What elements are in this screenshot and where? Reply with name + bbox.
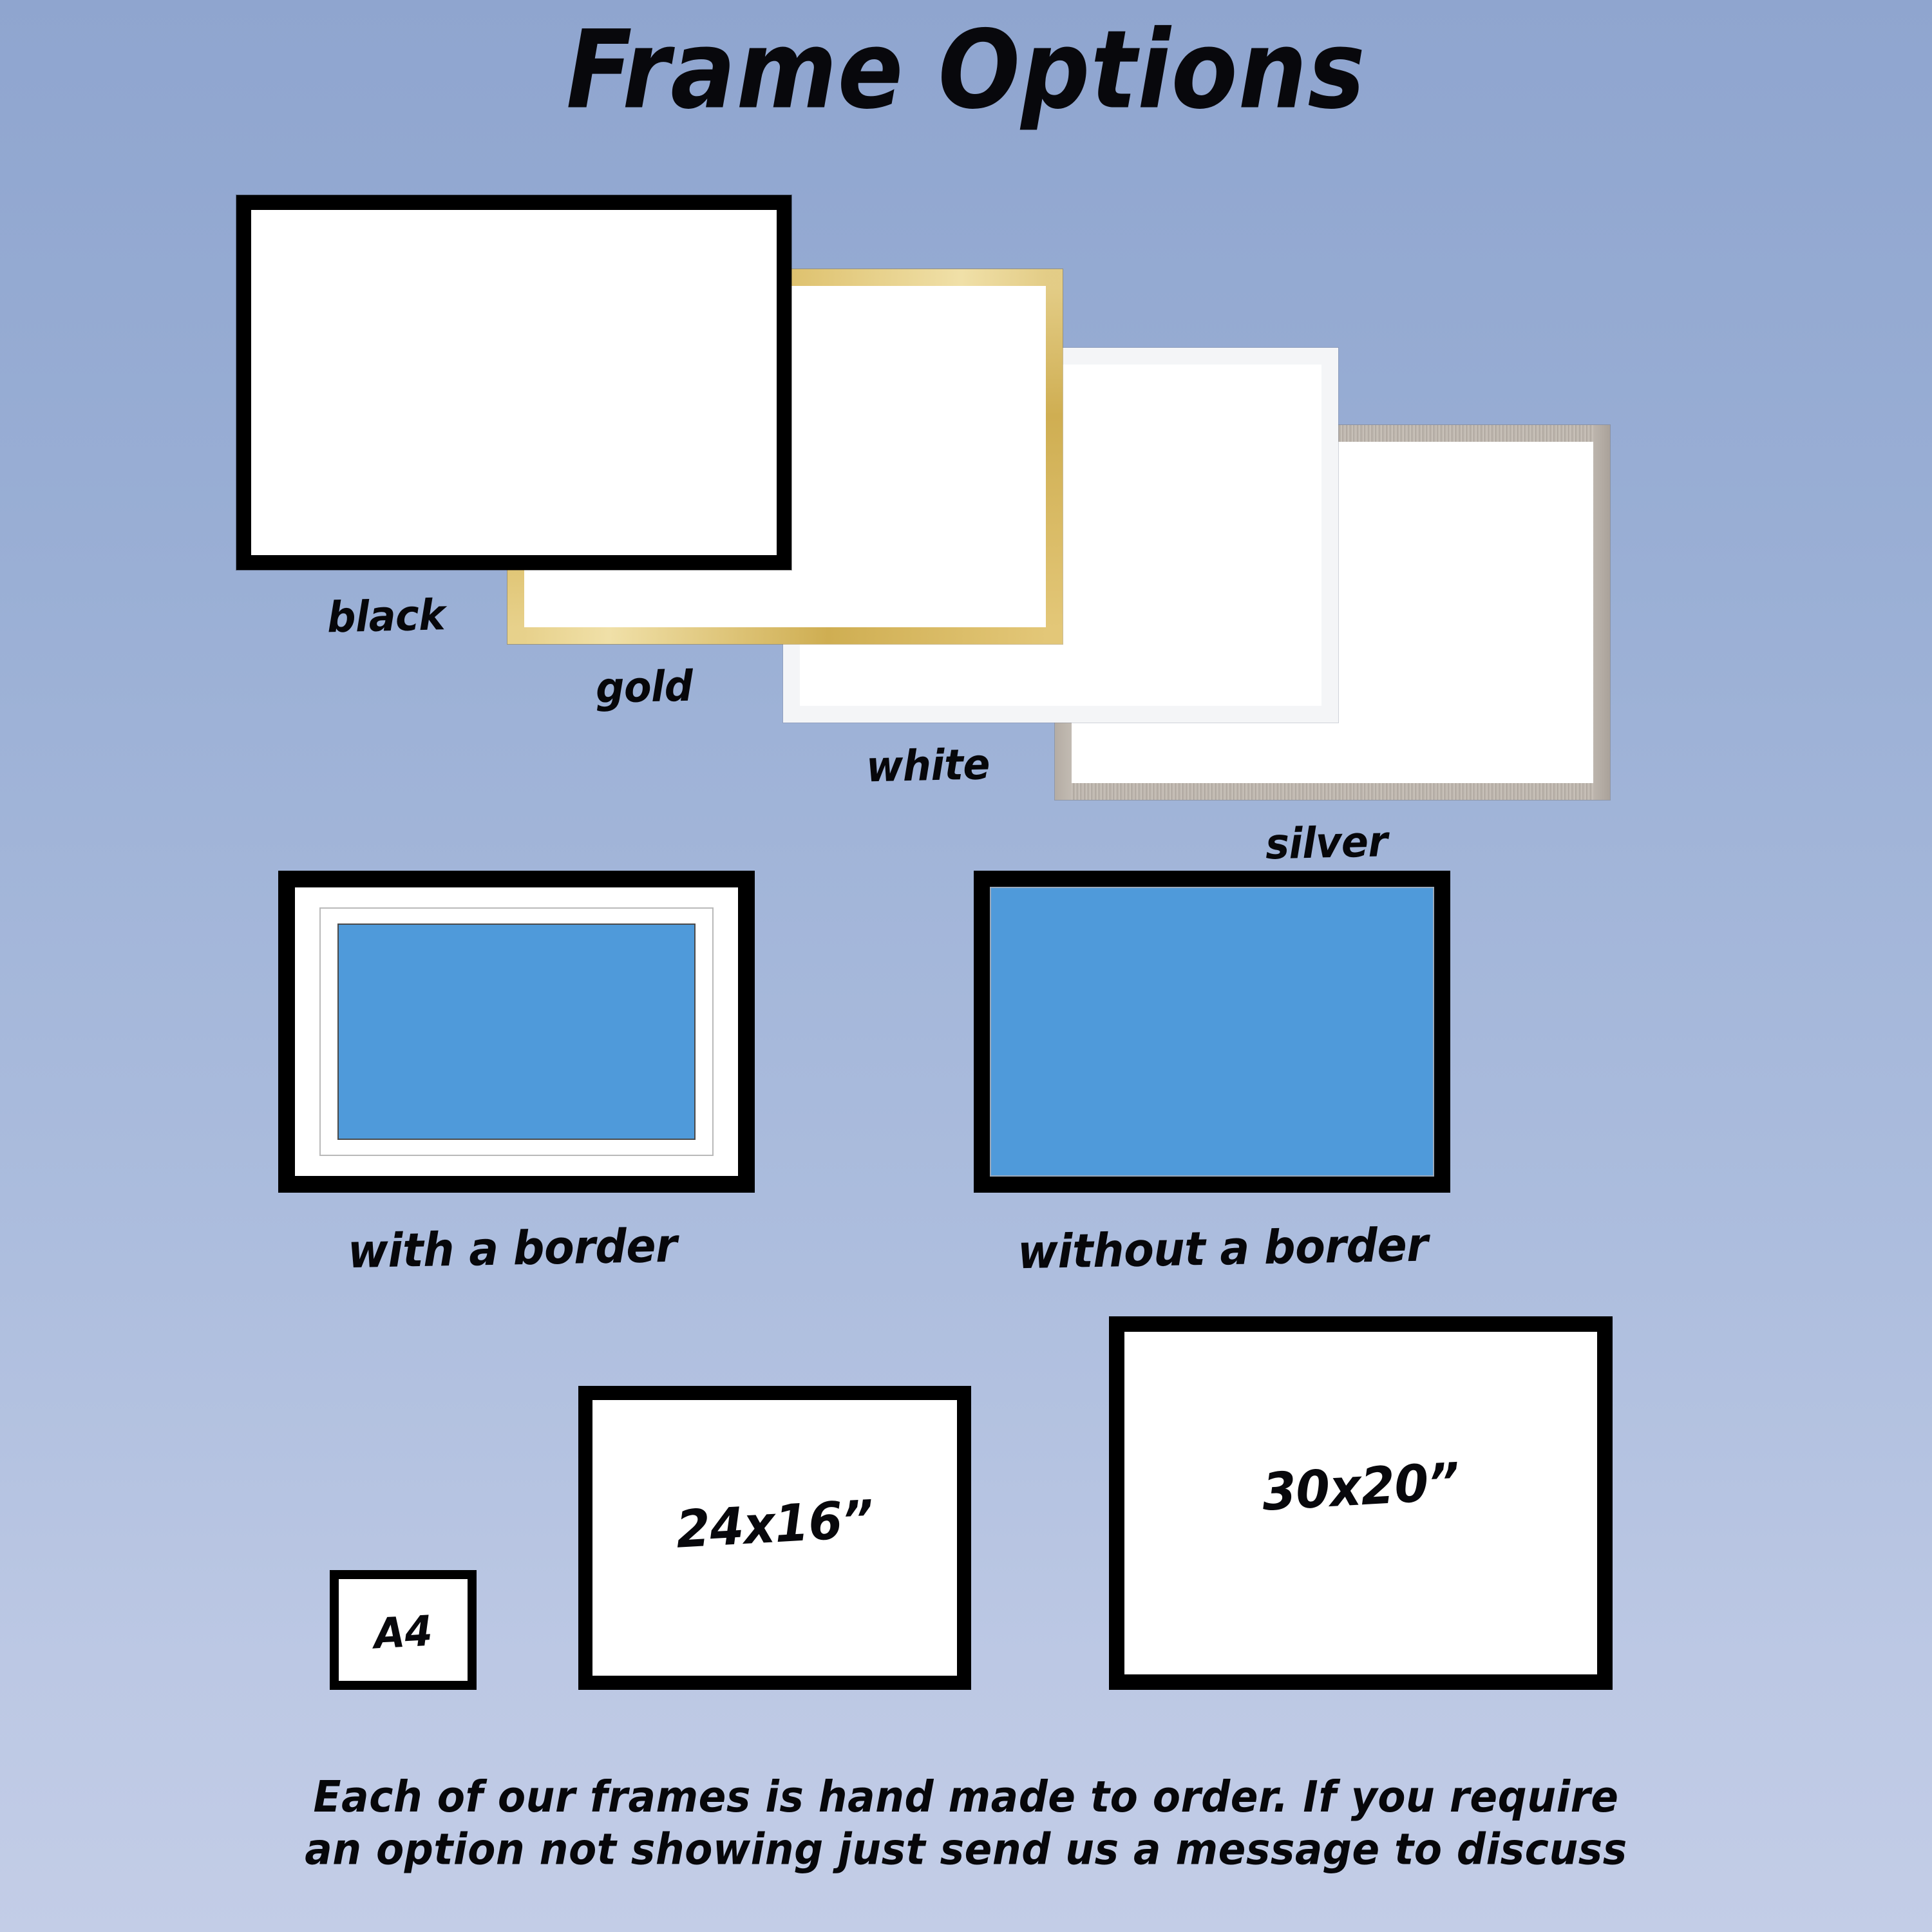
without-border-frame[interactable]	[974, 871, 1450, 1193]
footer-note: Each of our frames is hand made to order…	[0, 1771, 1932, 1876]
page-title: Frame Options	[0, 8, 1932, 133]
silver-frame-label: silver	[1265, 817, 1388, 869]
frame-options-poster: Frame Options black gold white silver wi…	[0, 0, 1932, 1932]
without-border-label: without a border	[1017, 1218, 1428, 1280]
size-frame-a4[interactable]: A4	[330, 1570, 477, 1690]
size-label-30x20: 30x20”	[1123, 1444, 1598, 1530]
size-label-a4: A4	[337, 1604, 469, 1661]
black-frame[interactable]	[236, 195, 791, 570]
without-border-artwork	[990, 887, 1434, 1176]
size-label-24x16: 24x16”	[591, 1484, 958, 1564]
size-frame-24x16[interactable]: 24x16”	[578, 1386, 971, 1690]
black-frame-label: black	[327, 590, 445, 642]
with-border-label: with a border	[347, 1219, 677, 1279]
with-border-frame[interactable]	[278, 871, 755, 1193]
white-frame-label: white	[866, 739, 990, 792]
size-frame-30x20[interactable]: 30x20”	[1109, 1316, 1613, 1690]
with-border-artwork	[337, 923, 696, 1140]
gold-frame-label: gold	[595, 661, 693, 713]
